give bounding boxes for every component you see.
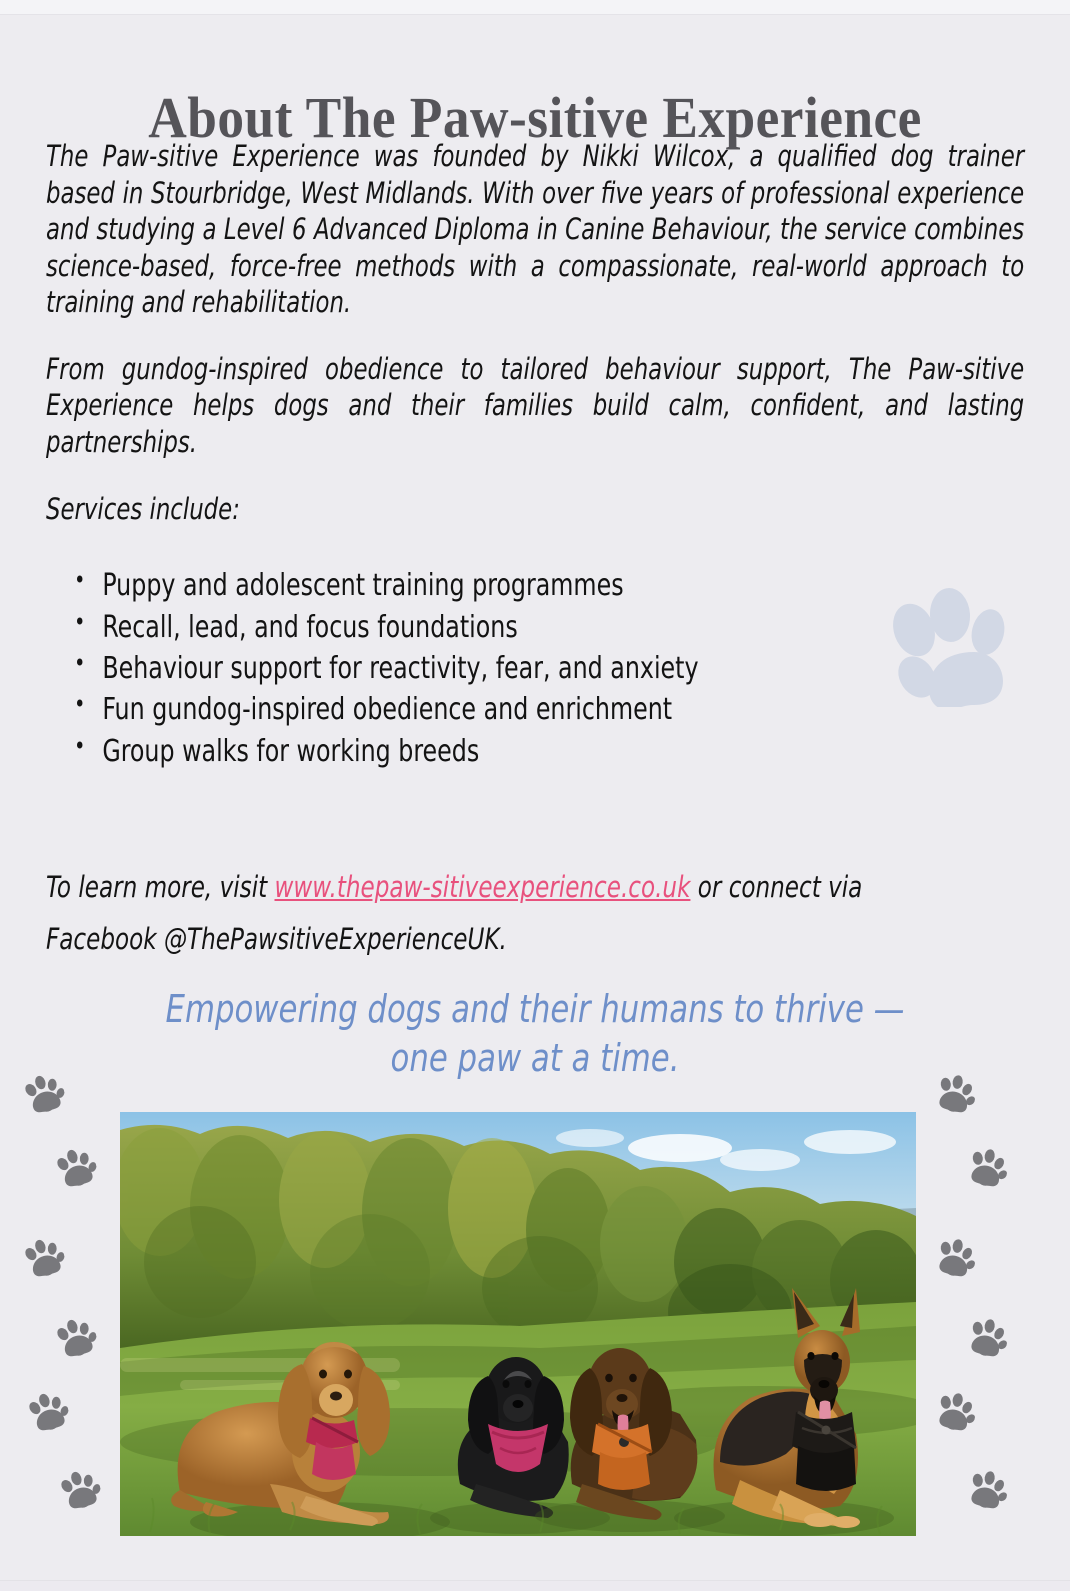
tagline-line-2: one paw at a time. xyxy=(103,1034,967,1083)
paw-print-icon xyxy=(964,1144,1012,1191)
paw-print-icon xyxy=(56,1466,104,1513)
dogs-photo xyxy=(120,1112,916,1536)
intro-paragraph: The Paw-sitive Experience was founded by… xyxy=(46,138,1024,321)
paw-print-icon xyxy=(20,1234,68,1281)
paw-print-icon xyxy=(24,1388,72,1435)
list-item: Behaviour support for reactivity, fear, … xyxy=(67,648,907,689)
paw-print-icon xyxy=(932,1234,980,1281)
list-item: Fun gundog-inspired obedience and enrich… xyxy=(67,689,907,730)
paw-print-icon xyxy=(964,1466,1012,1513)
bottom-edge-strip xyxy=(0,1580,1070,1591)
paw-print-icon xyxy=(964,1314,1012,1361)
contact-line-1: To learn more, visit www.thepaw-sitiveex… xyxy=(46,862,899,914)
paw-print-icon xyxy=(52,1144,100,1191)
list-item: Group walks for working breeds xyxy=(67,731,907,772)
services-list: Puppy and adolescent training programmes… xyxy=(46,565,907,772)
paw-print-icon xyxy=(932,1070,980,1117)
paw-print-icon xyxy=(932,1388,980,1435)
paw-print-icon xyxy=(52,1314,100,1361)
tagline: Empowering dogs and their humans to thri… xyxy=(103,985,967,1082)
list-item: Puppy and adolescent training programmes xyxy=(67,565,907,606)
services-label: Services include: xyxy=(46,491,887,528)
contact-line-2: Facebook @ThePawsitiveExperienceUK. xyxy=(46,914,899,966)
contact-lead-text: To learn more, visit xyxy=(46,870,274,904)
list-item: Recall, lead, and focus foundations xyxy=(67,607,907,648)
top-edge-strip xyxy=(0,0,1070,15)
approach-paragraph: From gundog-inspired obedience to tailor… xyxy=(46,351,1024,461)
website-link[interactable]: www.thepaw-sitiveexperience.co.uk xyxy=(274,870,690,904)
body-content: The Paw-sitive Experience was founded by… xyxy=(46,138,1024,772)
poster-page: About The Paw-sitive Experience The Paw-… xyxy=(0,0,1070,1591)
contact-mid-text: or connect via xyxy=(690,870,862,904)
contact-block: To learn more, visit www.thepaw-sitiveex… xyxy=(46,862,1026,965)
paw-print-icon xyxy=(20,1070,68,1117)
tagline-line-1: Empowering dogs and their humans to thri… xyxy=(103,985,967,1034)
